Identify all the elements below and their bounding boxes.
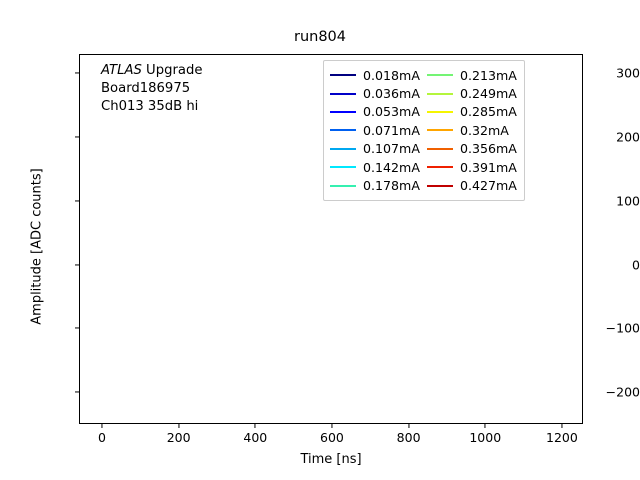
y-axis-label: Amplitude [ADC counts] bbox=[30, 127, 45, 367]
x-tick-mark bbox=[408, 424, 409, 428]
legend-entry[interactable]: 0.036mA bbox=[330, 84, 420, 102]
y-tick-label: 200 bbox=[594, 129, 640, 144]
legend-color-swatch bbox=[330, 129, 356, 131]
upgrade-label: Upgrade bbox=[142, 63, 203, 78]
legend-entry[interactable]: 0.213mA bbox=[427, 66, 517, 84]
legend-entry[interactable]: 0.018mA bbox=[330, 66, 420, 84]
x-tick-label: 400 bbox=[243, 430, 267, 445]
legend-label: 0.018mA bbox=[363, 68, 420, 83]
x-tick-label: 600 bbox=[320, 430, 344, 445]
x-tick-label: 0 bbox=[98, 430, 106, 445]
legend-color-swatch bbox=[427, 111, 453, 113]
x-tick-label: 200 bbox=[167, 430, 191, 445]
page-title: run804 bbox=[0, 29, 640, 45]
legend-label: 0.071mA bbox=[363, 123, 420, 138]
legend-entry[interactable]: 0.356mA bbox=[427, 140, 517, 158]
legend-color-swatch bbox=[330, 166, 356, 168]
legend-label: 0.427mA bbox=[460, 178, 517, 193]
legend-color-swatch bbox=[427, 93, 453, 95]
y-tick-label: 300 bbox=[594, 66, 640, 81]
legend-box: 0.018mA0.036mA0.053mA0.071mA0.107mA0.142… bbox=[323, 60, 525, 201]
legend-label: 0.285mA bbox=[460, 104, 517, 119]
legend-label: 0.178mA bbox=[363, 178, 420, 193]
legend-color-swatch bbox=[330, 111, 356, 113]
x-axis-label: Time [ns] bbox=[79, 452, 583, 467]
legend-entry[interactable]: 0.285mA bbox=[427, 103, 517, 121]
legend-entry[interactable]: 0.249mA bbox=[427, 84, 517, 102]
y-tick-label: 0 bbox=[594, 257, 640, 272]
x-tick-label: 1200 bbox=[546, 430, 578, 445]
legend-entry[interactable]: 0.391mA bbox=[427, 158, 517, 176]
figure-canvas: run804 Amplitude [ADC counts] Time [ns] … bbox=[0, 0, 640, 480]
legend-column-2: 0.213mA0.249mA0.285mA0.32mA0.356mA0.391m… bbox=[427, 66, 517, 195]
legend-label: 0.036mA bbox=[363, 86, 420, 101]
legend-label: 0.356mA bbox=[460, 141, 517, 156]
annotation-line-3: Ch013 35dB hi bbox=[101, 98, 202, 116]
legend-label: 0.213mA bbox=[460, 68, 517, 83]
x-tick-mark bbox=[485, 424, 486, 428]
legend-color-swatch bbox=[330, 148, 356, 150]
annotation-line-1: ATLAS Upgrade bbox=[101, 62, 202, 80]
legend-entry[interactable]: 0.107mA bbox=[330, 140, 420, 158]
x-tick-mark bbox=[561, 424, 562, 428]
legend-column-1: 0.018mA0.036mA0.053mA0.071mA0.107mA0.142… bbox=[330, 66, 420, 195]
legend-color-swatch bbox=[330, 185, 356, 187]
y-tick-label: −100 bbox=[594, 321, 640, 336]
legend-entry[interactable]: 0.142mA bbox=[330, 158, 420, 176]
legend-entry[interactable]: 0.053mA bbox=[330, 103, 420, 121]
legend-color-swatch bbox=[427, 185, 453, 187]
annotation-line-2: Board186975 bbox=[101, 80, 202, 98]
y-tick-label: 100 bbox=[594, 193, 640, 208]
legend-entry[interactable]: 0.178mA bbox=[330, 176, 420, 194]
legend-label: 0.391mA bbox=[460, 160, 517, 175]
legend-entry[interactable]: 0.427mA bbox=[427, 176, 517, 194]
legend-color-swatch bbox=[330, 74, 356, 76]
x-tick-mark bbox=[331, 424, 332, 428]
legend-label: 0.249mA bbox=[460, 86, 517, 101]
legend-color-swatch bbox=[427, 166, 453, 168]
legend-color-swatch bbox=[427, 129, 453, 131]
legend-entry[interactable]: 0.32mA bbox=[427, 121, 517, 139]
x-tick-mark bbox=[178, 424, 179, 428]
y-tick-label: −200 bbox=[594, 385, 640, 400]
legend-label: 0.107mA bbox=[363, 141, 420, 156]
atlas-label: ATLAS bbox=[101, 63, 142, 78]
x-tick-label: 1000 bbox=[469, 430, 501, 445]
x-tick-mark bbox=[255, 424, 256, 428]
x-tick-mark bbox=[101, 424, 102, 428]
legend-label: 0.142mA bbox=[363, 160, 420, 175]
legend-entry[interactable]: 0.071mA bbox=[330, 121, 420, 139]
legend-color-swatch bbox=[427, 148, 453, 150]
annotation-text: ATLAS Upgrade Board186975 Ch013 35dB hi bbox=[101, 62, 202, 115]
x-tick-label: 800 bbox=[397, 430, 421, 445]
legend-label: 0.32mA bbox=[460, 123, 509, 138]
legend-label: 0.053mA bbox=[363, 104, 420, 119]
legend-color-swatch bbox=[330, 93, 356, 95]
legend-color-swatch bbox=[427, 74, 453, 76]
